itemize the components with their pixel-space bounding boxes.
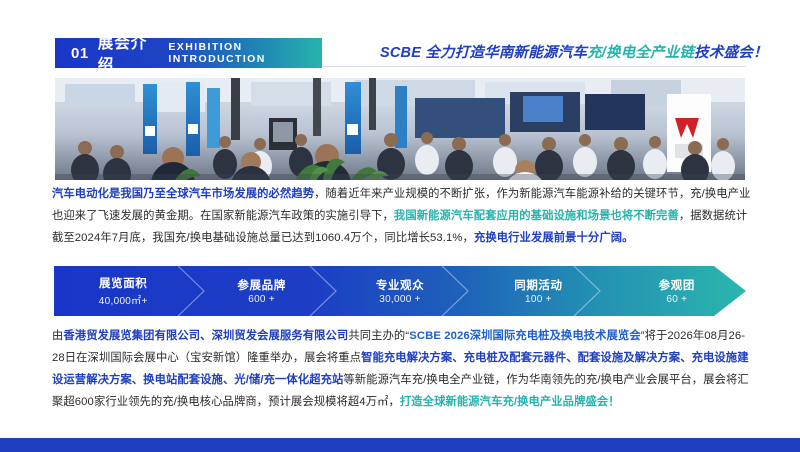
slogan-prefix: SCBE [380,45,425,61]
stat-value: 40,000㎡+ [99,292,148,307]
intro-seg-5: 充换电行业发展前景十分广阔。 [474,232,634,244]
detail-seg-4: SCBE 2026深圳国际充电桩及换电技术展览会 [409,330,641,342]
stat-value: 600 + [248,294,275,305]
stat-item-brands: 参展品牌 600 + [192,266,330,316]
stat-value: 100 + [525,294,552,305]
stat-label: 展览面积 [99,275,147,291]
stat-label: 参展品牌 [237,277,285,293]
detail-seg-2: 香港贸发展览集团有限公司、深圳贸发会展服务有限公司 [63,330,348,342]
stat-label: 同期活动 [514,277,562,293]
stats-bar: 展览面积 40,000㎡+ 参展品牌 600 + 专业观众 30,000 + 同… [54,266,746,316]
footer-bar [0,438,800,452]
slogan-part2: 技术盛会！ [694,45,768,61]
intro-paragraph: 汽车电动化是我国乃至全球汽车市场发展的必然趋势，随着近年来产业规模的不断扩张，作… [52,183,752,249]
stats-cells: 展览面积 40,000㎡+ 参展品牌 600 + 专业观众 30,000 + 同… [54,266,746,316]
slogan-highlight: 充/换电全产业链 [587,45,694,61]
intro-seg-3: 我国新能源汽车配套应用的基础设施和场景也将不断完善 [394,210,679,222]
stat-value: 60 + [666,294,687,305]
section-title-en: EXHIBITION INTRODUCTION [168,41,322,65]
section-tab: 01 展会介绍 EXHIBITION INTRODUCTION [55,38,322,68]
stat-item-visitors: 专业观众 30,000 + [331,266,469,316]
exhibition-photo [55,78,745,180]
detail-paragraph: 由香港贸发展览集团有限公司、深圳贸发会展服务有限公司共同主办的“SCBE 202… [52,325,752,413]
stat-value: 30,000 + [379,294,421,305]
header-slogan: SCBE 全力打造华南新能源汽车充/换电全产业链技术盛会！ [380,41,768,62]
header-row: 01 展会介绍 EXHIBITION INTRODUCTION SCBE 全力打… [0,38,800,68]
photo-illustration [55,78,745,180]
slogan-part1: 全力打造华南新能源汽车 [425,45,587,61]
stat-item-exhibition-area: 展览面积 40,000㎡+ [54,266,192,316]
header-divider [322,66,746,67]
slide-page: 01 展会介绍 EXHIBITION INTRODUCTION SCBE 全力打… [0,0,800,452]
stat-label: 专业观众 [376,277,424,293]
detail-seg-1: 由 [52,330,63,342]
stat-label: 参观团 [659,277,695,293]
stat-item-delegations: 参观团 60 + [608,266,746,316]
stat-item-events: 同期活动 100 + [469,266,607,316]
section-number: 01 [71,45,89,62]
intro-seg-1: 汽车电动化是我国乃至全球汽车市场发展的必然趋势 [52,188,314,200]
detail-seg-3: 共同主办的“ [348,330,409,342]
section-title-cn: 展会介绍 [98,31,156,75]
detail-seg-8: 打造全球新能源汽车充/换电产业品牌盛会！ [400,396,620,408]
